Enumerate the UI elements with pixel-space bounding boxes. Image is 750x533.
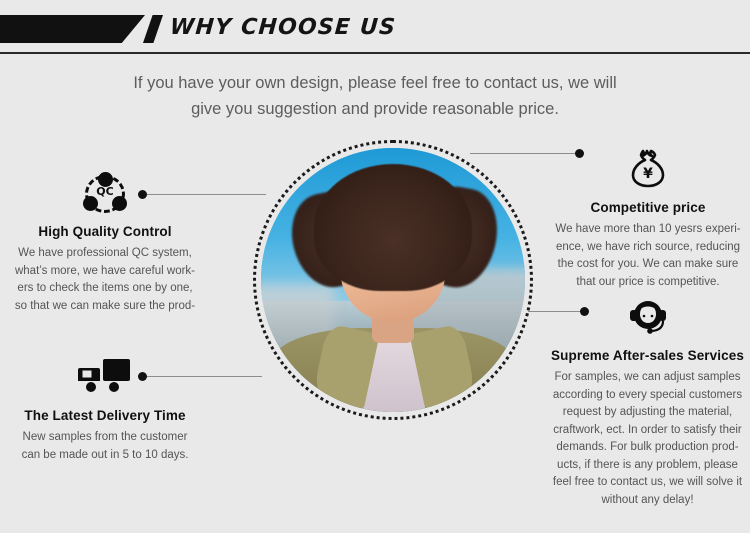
page-title: WHY CHOOSE US	[169, 15, 397, 40]
photo-image	[261, 148, 525, 412]
feature-body-line: craftwork, ect. In order to satisfy thei…	[545, 422, 750, 440]
truck-icon-svg	[77, 356, 133, 396]
feature-high-quality-control: QC High Quality Control We have professi…	[0, 172, 210, 315]
feature-body-services: For samples, we can adjust samples accor…	[545, 369, 750, 509]
money-bag-icon: ¥	[620, 148, 676, 194]
feature-body-line: For samples, we can adjust samples	[545, 369, 750, 387]
qc-icon-label: QC	[82, 185, 128, 198]
feature-title-price: Competitive price	[548, 200, 748, 215]
feature-body-line: according to every special customers	[545, 387, 750, 405]
svg-text:¥: ¥	[643, 166, 653, 182]
qc-icon-node-left	[83, 196, 98, 211]
feature-body-line: We have professional QC system,	[0, 245, 210, 263]
feature-after-sales-services: Supreme After-sales Services For samples…	[545, 296, 750, 509]
qc-icon: QC	[77, 172, 133, 218]
feature-body-line: New samples from the customer	[0, 429, 210, 447]
subtitle-line-1: If you have your own design, please feel…	[95, 70, 655, 96]
subtitle: If you have your own design, please feel…	[95, 70, 655, 122]
feature-body-line: feel free to contact us, we will solve i…	[545, 474, 750, 492]
feature-body-line: the cost for you. We can make sure	[548, 256, 748, 274]
feature-body-line: without any delay!	[545, 492, 750, 510]
feature-body-line: that our price is competitive.	[548, 274, 748, 292]
page-header: WHY CHOOSE US	[0, 0, 750, 57]
feature-latest-delivery-time: The Latest Delivery Time New samples fro…	[0, 356, 210, 464]
feature-body-line: so that we can make sure the prod-	[0, 298, 210, 316]
feature-title-services: Supreme After-sales Services	[545, 348, 750, 363]
feature-body-delivery: New samples from the customer can be mad…	[0, 429, 210, 464]
feature-body-line: request by adjusting the material,	[545, 404, 750, 422]
feature-title-delivery: The Latest Delivery Time	[0, 408, 210, 423]
header-slash-icon	[143, 15, 163, 43]
headset-icon	[620, 296, 676, 342]
feature-competitive-price: ¥ Competitive price We have more than 10…	[548, 148, 748, 291]
feature-body-line: ers to check the items one by one,	[0, 280, 210, 298]
feature-body-price: We have more than 10 yesrs experi- ence,…	[548, 221, 748, 291]
money-bag-icon-svg: ¥	[626, 148, 670, 192]
truck-icon	[77, 356, 133, 402]
feature-body-line: what’s more, we have careful work-	[0, 263, 210, 281]
qc-icon-node-right	[112, 196, 127, 211]
feature-body-qc: We have professional QC system, what’s m…	[0, 245, 210, 315]
headset-icon-svg	[626, 296, 670, 338]
feature-body-line: ucts, if there is any problem, please	[545, 457, 750, 475]
subtitle-line-2: give you suggestion and provide reasonab…	[95, 96, 655, 122]
center-photo	[253, 140, 533, 420]
header-black-bar	[0, 15, 145, 43]
header-divider	[0, 52, 750, 54]
photo-hair-top	[314, 164, 472, 291]
feature-body-line: demands. For bulk production prod-	[545, 439, 750, 457]
feature-title-qc: High Quality Control	[0, 224, 210, 239]
feature-body-line: We have more than 10 yesrs experi-	[548, 221, 748, 239]
feature-body-line: ence, we have rich source, reducing	[548, 239, 748, 257]
feature-body-line: can be made out in 5 to 10 days.	[0, 447, 210, 465]
